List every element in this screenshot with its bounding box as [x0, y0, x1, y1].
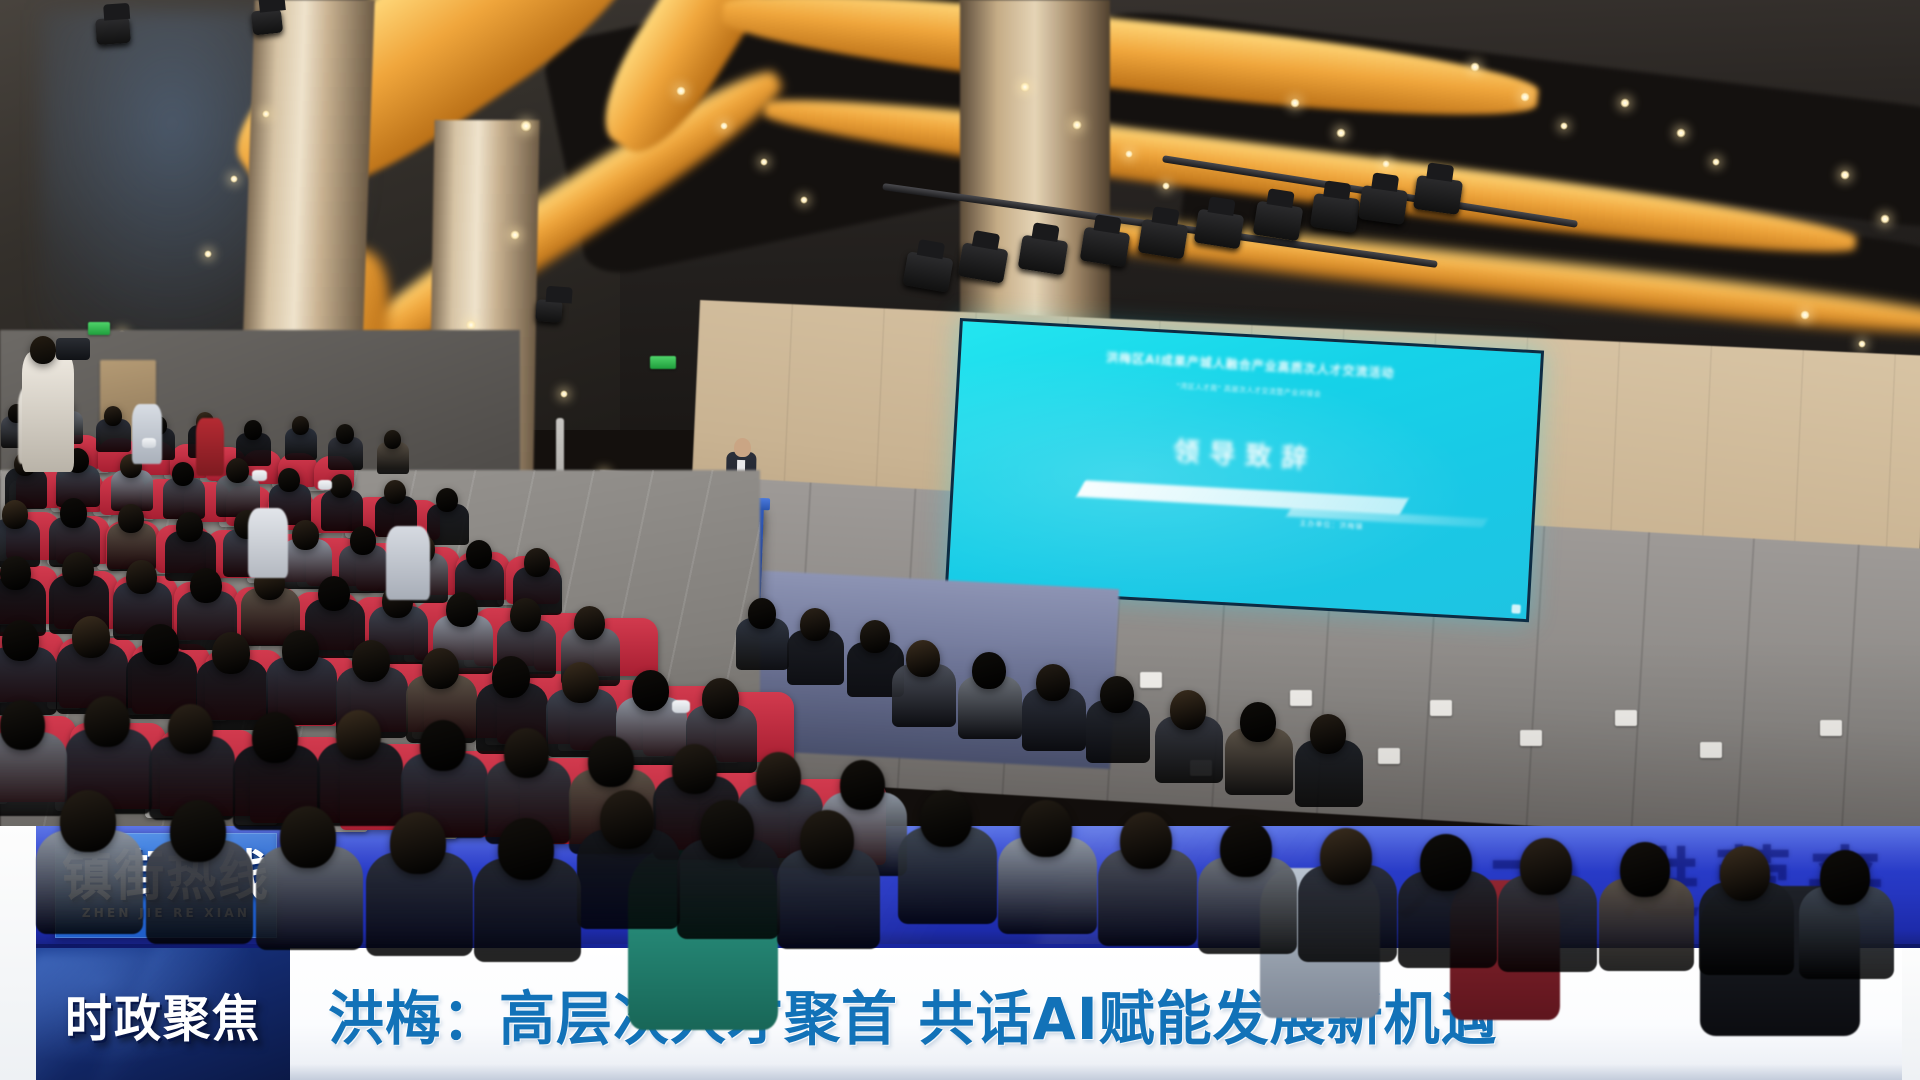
downlight-dot [1162, 182, 1170, 190]
downlight-dot [1520, 92, 1530, 102]
downlight-dot [520, 120, 532, 132]
downlight-dot [560, 390, 568, 398]
audience-person-head [2, 500, 28, 529]
audience-person-head [244, 420, 262, 440]
audience-person-head [292, 520, 319, 550]
wall-plate [1615, 710, 1637, 726]
audience-person-head [252, 712, 298, 763]
video-scene: 洪梅区AI成果产城人融合产业高质次人才交流活动 "湾区人才周" 高层次人才交流暨… [0, 0, 1920, 1080]
downlight-dot [1020, 82, 1030, 92]
audience-person-head [972, 652, 1006, 689]
audience-person-head [280, 806, 336, 868]
exit-sign [88, 322, 110, 335]
audience-person-head [492, 656, 530, 698]
audience-person-head [1120, 812, 1172, 869]
speaker-person-head [734, 438, 751, 457]
downlight-dot [510, 230, 520, 240]
audience-person-head [1520, 838, 1572, 895]
audience-person-light-coat [248, 508, 288, 578]
audience-person-head [60, 790, 116, 852]
downlight-dot [1125, 150, 1133, 158]
downlight-dot [262, 110, 270, 118]
downlight-dot [1336, 128, 1346, 138]
banner-right-rail [1902, 947, 1920, 1080]
audience-person-head [800, 608, 830, 641]
wall-plate [1140, 672, 1162, 688]
audience-person-head [282, 630, 319, 671]
audience-face-mask [252, 470, 267, 481]
audience-person-head [600, 790, 654, 849]
audience-person-head [170, 800, 226, 862]
audience-person-head [1620, 842, 1670, 897]
banner-left-rail [0, 826, 36, 1080]
audience-person-head [1100, 676, 1134, 713]
wall-plate [1378, 748, 1400, 764]
audience-person-head [920, 790, 972, 847]
audience-person-head [226, 458, 249, 483]
audience-person-head [800, 810, 854, 869]
audience-person-head [336, 424, 354, 444]
downlight-dot [204, 250, 212, 258]
audience-person-head [1820, 850, 1870, 905]
audience-person-head [104, 406, 122, 426]
audience-person-head [672, 744, 717, 794]
audience-person-head [0, 700, 45, 750]
downlight-dot [1676, 128, 1686, 138]
wall-plate [1520, 730, 1542, 746]
downlight-dot [800, 196, 808, 204]
downlight-dot [1712, 158, 1720, 166]
led-screen-corner-mark [1511, 604, 1520, 613]
audience-person-head [172, 462, 194, 486]
stage-light-fixture [1080, 227, 1131, 268]
audience-person-head [632, 670, 669, 711]
audience-person-head [510, 598, 541, 632]
audience-person-head [84, 696, 130, 747]
downlight-dot [760, 158, 768, 166]
downlight-dot [230, 175, 238, 183]
downlight-dot [1470, 62, 1480, 72]
led-stage-screen: 洪梅区AI成果产城人融合产业高质次人才交流活动 "湾区人才周" 高层次人才交流暨… [945, 318, 1544, 622]
audience-person-head [292, 416, 309, 435]
audience-person-head [906, 640, 940, 677]
audience-person-head [860, 620, 890, 653]
audience-person-head [574, 606, 605, 640]
audience-person-head [60, 498, 87, 528]
audience-person-head [118, 504, 144, 533]
broadcast-frame: 洪梅区AI成果产城人融合产业高质次人才交流活动 "湾区人才周" 高层次人才交流暨… [0, 0, 1920, 1080]
video-camera [56, 338, 90, 360]
audience-person-head [352, 640, 390, 682]
downlight-dot [1840, 170, 1850, 180]
audience-face-mask [318, 480, 332, 490]
audience-person-red-top [196, 418, 224, 476]
stage-light-fixture [1310, 193, 1360, 233]
stage-light-fixture [1138, 219, 1189, 260]
stage-light-fixture [1194, 209, 1245, 250]
ceiling-column [960, 0, 1110, 330]
audience-person-head [72, 616, 110, 658]
audience-person-head [190, 568, 222, 603]
downlight-dot [1858, 340, 1866, 348]
audience-person-head [466, 540, 492, 569]
downlight-dot [1560, 122, 1568, 130]
audience-person-head [702, 678, 739, 719]
stage-light-fixture [95, 17, 131, 45]
audience-person-head [62, 552, 94, 587]
downlight-dot [676, 86, 686, 96]
downlight-dot [1290, 98, 1300, 108]
downlight-dot [1880, 214, 1890, 224]
audience-person-head [436, 488, 458, 512]
category-badge-label: 时政聚焦 [65, 977, 261, 1050]
audience-person-head [384, 480, 406, 504]
audience-person-head [176, 512, 203, 542]
audience-face-mask [142, 438, 156, 448]
downlight-dot [1800, 310, 1810, 320]
audience-person-head [420, 720, 466, 771]
camera-operator-body [22, 352, 74, 472]
audience-person-light-coat [386, 526, 430, 600]
wall-plate [1820, 720, 1842, 736]
audience-person-head [1310, 714, 1346, 754]
audience-person-head [1240, 702, 1276, 742]
downlight-dot [1072, 120, 1082, 130]
audience-person-head [1020, 800, 1072, 857]
stage-light-fixture [1358, 185, 1408, 225]
audience-person-light-coat [132, 404, 162, 464]
audience-person-head [498, 818, 554, 880]
audience-person-head [446, 592, 478, 627]
audience-person-head [336, 710, 381, 760]
audience-person-head [390, 812, 446, 874]
audience-person-head [700, 800, 754, 859]
audience-person-head [1320, 828, 1372, 885]
audience-person-head [168, 704, 213, 754]
stage-light-fixture [1253, 201, 1304, 242]
audience-person-head [840, 760, 885, 810]
wall-plate [1430, 700, 1452, 716]
exit-sign [650, 356, 676, 369]
audience-person-head [126, 560, 157, 594]
audience-person-head [1036, 664, 1070, 701]
audience-person-head [504, 728, 549, 778]
audience-person-head [562, 662, 599, 703]
audience-person-head [142, 624, 179, 665]
downlight-dot [466, 320, 476, 330]
stage-light-fixture [1413, 175, 1463, 215]
audience-person-head [318, 576, 350, 611]
audience-face-mask [672, 700, 690, 713]
camera-operator-head [30, 336, 56, 364]
audience-person-head [212, 632, 250, 674]
audience-person-head [384, 430, 401, 449]
wall-plate [1290, 690, 1312, 706]
stage-light-fixture [251, 8, 283, 35]
audience-person-head [330, 474, 352, 498]
audience-person-head [588, 736, 634, 787]
audience-person-head [1420, 834, 1472, 891]
audience-person-head [1720, 846, 1770, 901]
audience-person-head [0, 556, 31, 590]
wall-plate [1700, 742, 1722, 758]
audience-person-head [1220, 820, 1272, 877]
speaker-box [535, 299, 562, 323]
audience-person-head [1170, 690, 1206, 730]
audience-person-head [756, 752, 801, 802]
downlight-dot [720, 122, 728, 130]
audience-person-head [2, 620, 39, 661]
downlight-dot [1620, 98, 1630, 108]
audience-person-head [422, 648, 459, 689]
audience-person-head [524, 548, 550, 577]
audience-person-head [350, 526, 376, 555]
stage-light-fixture [1018, 235, 1069, 276]
downlight-dot [1382, 160, 1390, 168]
category-badge[interactable]: 时政聚焦 [36, 948, 290, 1080]
audience-person-head [748, 598, 776, 629]
audience-person-head [278, 468, 300, 492]
